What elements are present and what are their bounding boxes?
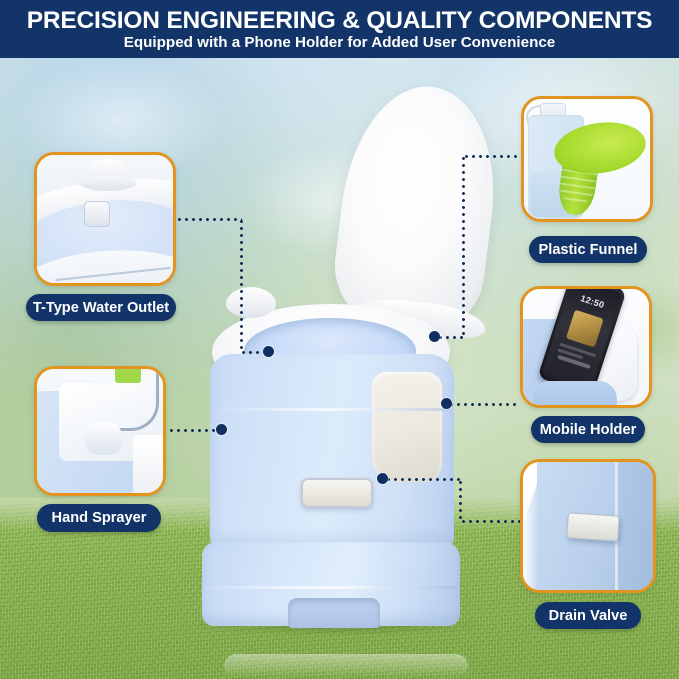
base-carry-notch (288, 598, 380, 628)
label-mobile-holder[interactable]: Mobile Holder (531, 416, 645, 443)
connector-drain-valve-h1 (460, 520, 520, 523)
label-t-type-water-outlet[interactable]: T-Type Water Outlet (26, 294, 176, 321)
connector-funnel-h2 (437, 336, 465, 339)
thumbnail-plastic-funnel[interactable] (521, 96, 653, 222)
base-seam (206, 586, 456, 589)
label-drain-valve[interactable]: Drain Valve (535, 602, 641, 629)
toilet-lid (328, 78, 507, 339)
thumbnail-mobile-holder[interactable]: 12:50 (520, 286, 652, 408)
connector-mobile-holder-h (448, 403, 520, 406)
tank-seam (214, 408, 450, 411)
funnel-icon (524, 99, 650, 219)
connector-t-type-v (240, 218, 243, 352)
label-hand-sprayer[interactable]: Hand Sprayer (37, 504, 161, 532)
connector-hand-sprayer-h (168, 429, 220, 432)
anchor-hand-sprayer (216, 424, 227, 435)
water-outlet-icon (37, 155, 173, 283)
connector-t-type-h1 (176, 218, 242, 221)
connector-drain-valve-v (459, 479, 462, 523)
side-access-panel (372, 372, 442, 482)
tank-highlight (224, 654, 468, 678)
page-subtitle: Equipped with a Phone Holder for Added U… (124, 35, 556, 51)
anchor-mobile-holder (441, 398, 452, 409)
header-banner: PRECISION ENGINEERING & QUALITY COMPONEN… (0, 0, 679, 58)
flush-pump-button (301, 478, 373, 508)
anchor-t-type-water-outlet (263, 346, 274, 357)
hand-sprayer-icon (37, 369, 163, 493)
thumbnail-hand-sprayer[interactable] (34, 366, 166, 496)
phone-holder-icon: 12:50 (523, 289, 649, 405)
drain-valve-icon (523, 462, 653, 590)
label-plastic-funnel[interactable]: Plastic Funnel (529, 236, 647, 263)
anchor-drain-valve (377, 473, 388, 484)
connector-funnel-h1 (463, 155, 521, 158)
thumbnail-drain-valve[interactable] (520, 459, 656, 593)
connector-funnel-v (462, 155, 465, 337)
connector-drain-valve-h2 (385, 478, 461, 481)
infographic-stage: PRECISION ENGINEERING & QUALITY COMPONEN… (0, 0, 679, 679)
product-portable-toilet (196, 86, 486, 626)
page-title: PRECISION ENGINEERING & QUALITY COMPONEN… (27, 8, 653, 34)
anchor-plastic-funnel (429, 331, 440, 342)
thumbnail-t-type-water-outlet[interactable] (34, 152, 176, 286)
fill-cap-base (230, 298, 272, 318)
